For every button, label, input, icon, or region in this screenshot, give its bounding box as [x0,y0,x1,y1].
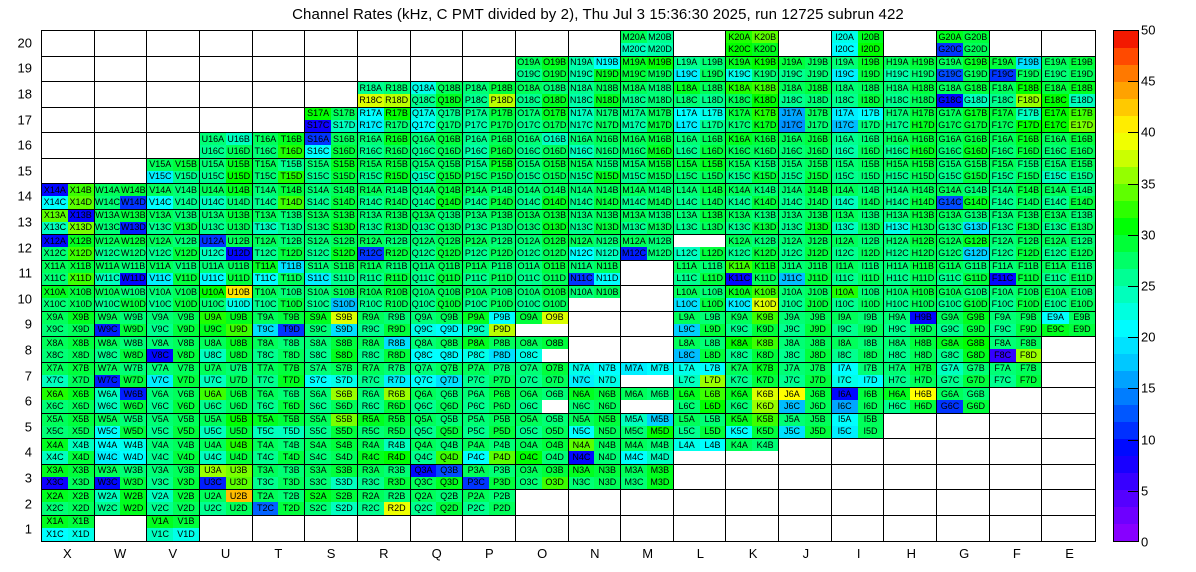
channel-cell: S2A [305,490,331,502]
channel-cell [1069,400,1095,412]
channel-cell: Q18C [411,94,437,106]
channel-cell: G17B [963,108,989,120]
channel-cell: R17B [384,108,410,120]
heatmap-cell: T11AT11BT11CT11D [253,261,306,287]
channel-cell: P15D [489,171,515,183]
channel-cell [674,31,700,43]
channel-cell: G7B [963,363,989,375]
channel-cell: T13D [278,222,304,234]
channel-cell [832,477,858,489]
channel-cell: W12C [95,247,121,259]
heatmap-cell: O13AO13BO13CO13D [516,210,569,236]
channel-cell: M16A [621,133,647,145]
channel-cell: V6C [147,400,173,412]
channel-cell: Q7A [411,363,437,375]
channel-cell: K7C [726,375,752,387]
channel-cell: Q10D [436,298,462,310]
channel-cell [963,414,989,426]
channel-cell: U8D [226,349,252,361]
channel-cell: P5C [463,426,489,438]
channel-cell: G15D [963,171,989,183]
channel-cell: Q7D [436,375,462,387]
channel-cell: W4A [95,439,121,451]
channel-cell: J9B [805,312,831,324]
channel-cell: G11D [963,273,989,285]
channel-cell: V13A [147,210,173,222]
channel-cell: M16B [647,133,673,145]
channel-cell: N6B [594,388,620,400]
channel-cell: N3D [594,477,620,489]
heatmap-cell: P14AP14BP14CP14D [463,184,516,210]
channel-cell [120,43,146,55]
channel-cell: P12B [489,235,515,247]
channel-cell [68,171,94,183]
channel-cell [910,465,936,477]
channel-cell: I11D [858,273,884,285]
heatmap-cell: Q13AQ13BQ13CQ13D [411,210,464,236]
channel-cell: E11D [1069,273,1095,285]
channel-cell: P10B [489,286,515,298]
heatmap-cell: P6AP6BP6CP6D [463,388,516,414]
channel-cell: S15C [305,171,331,183]
channel-cell: R15A [358,159,384,171]
channel-cell: V11D [173,273,199,285]
heatmap-cell [621,286,674,312]
channel-cell: I5C [832,426,858,438]
channel-cell: O14B [542,184,568,196]
channel-cell: K7B [752,363,778,375]
channel-cell [647,516,673,529]
channel-cell: X6D [68,400,94,412]
channel-cell: P15B [489,159,515,171]
y-axis-tick: 20 [0,35,32,50]
channel-cell: U16B [226,133,252,145]
channel-cell: V4A [147,439,173,451]
heatmap-cell: X12AX12BX12CX12D [42,235,95,261]
channel-cell [147,43,173,55]
channel-cell: X1D [68,528,94,541]
channel-cell: N3A [569,465,595,477]
channel-cell: O19B [542,57,568,69]
channel-cell: K10A [726,286,752,298]
channel-cell [463,57,489,69]
channel-cell: T9A [253,312,279,324]
channel-cell: R4C [358,451,384,463]
heatmap-cell: S9AS9BS9CS9D [305,312,358,338]
channel-cell: R12B [384,235,410,247]
channel-cell: G17A [937,108,963,120]
channel-cell [963,465,989,477]
channel-cell: O5C [516,426,542,438]
channel-cell [858,477,884,489]
channel-cell: G7C [937,375,963,387]
heatmap-cell [95,31,148,57]
channel-cell: J18B [805,82,831,94]
channel-cell: F16A [990,133,1016,145]
channel-cell: U3D [226,477,252,489]
channel-cell [779,490,805,502]
channel-cell: K20C [726,43,752,55]
channel-cell [42,31,68,43]
channel-cell: G15B [963,159,989,171]
channel-cell: K7A [726,363,752,375]
channel-cell: I9A [832,312,858,324]
heatmap-cell: O4AO4BO4CO4D [516,439,569,465]
channel-cell: I9C [832,324,858,336]
channel-cell [647,273,673,285]
channel-cell: F19D [1016,69,1042,81]
channel-cell: P4B [489,439,515,451]
heatmap-cell: U10AU10BU10CU10D [200,286,253,312]
channel-cell [1016,465,1042,477]
channel-cell [569,324,595,336]
channel-cell: V4C [147,451,173,463]
channel-cell: Q11A [411,261,437,273]
channel-cell [832,516,858,529]
channel-cell: S9A [305,312,331,324]
channel-cell [68,133,94,145]
channel-cell: K13C [726,222,752,234]
heatmap-cell [42,57,95,83]
channel-cell: J17C [779,120,805,132]
y-axis-tick: 10 [0,291,32,306]
channel-cell: F15A [990,159,1016,171]
x-axis-tick: F [1013,546,1021,561]
channel-cell: N15A [569,159,595,171]
heatmap-cell: F16AF16BF16CF16D [990,133,1043,159]
channel-cell: X6A [42,388,68,400]
channel-cell: Q3B [436,465,462,477]
channel-cell: U10C [200,298,226,310]
heatmap-cell: E12AE12BE12CE12D [1042,235,1095,261]
colorbar-tick-label: 30 [1141,227,1155,242]
heatmap-cell: H15AH15BH15CH15D [884,159,937,185]
channel-cell: K14C [726,196,752,208]
channel-cell [95,159,121,171]
channel-cell [226,120,252,132]
channel-cell: R14C [358,196,384,208]
channel-cell: R7B [384,363,410,375]
heatmap-cell: O7AO7BO7CO7D [516,363,569,389]
heatmap-cell: I12AI12BI12CI12D [832,235,885,261]
channel-cell: F14C [990,196,1016,208]
channel-cell: L18B [700,82,726,94]
y-axis-tick: 18 [0,87,32,102]
channel-cell: U3C [200,477,226,489]
colorbar-tick-label: 10 [1141,432,1155,447]
heatmap-cell: Q11AQ11BQ11CQ11D [411,261,464,287]
channel-cell [120,69,146,81]
channel-cell: Q4C [411,451,437,463]
channel-cell: K15A [726,159,752,171]
channel-cell: J7B [805,363,831,375]
channel-cell: X10D [68,298,94,310]
channel-cell [990,490,1016,502]
heatmap-cell [95,133,148,159]
channel-cell [305,528,331,541]
heatmap-cell [832,490,885,516]
channel-cell [542,324,568,336]
channel-cell: P7B [489,363,515,375]
heatmap-cell: E15AE15BE15CE15D [1042,159,1095,185]
channel-cell: U7A [200,363,226,375]
heatmap-cell: P3AP3BP3CP3D [463,465,516,491]
channel-cell: W9A [95,312,121,324]
channel-cell: S9D [331,324,357,336]
channel-cell [147,57,173,69]
channel-cell [990,43,1016,55]
channel-cell: I10A [832,286,858,298]
channel-cell: L19A [674,57,700,69]
channel-cell: R6C [358,400,384,412]
channel-cell [1042,465,1068,477]
channel-cell: O10D [542,298,568,310]
channel-cell: Q2C [411,502,437,514]
channel-cell: H18D [910,94,936,106]
channel-cell: O18B [542,82,568,94]
channel-cell: P3A [463,465,489,477]
channel-cell: O11A [516,261,542,273]
channel-cell: O14C [516,196,542,208]
channel-cell: X14D [68,196,94,208]
channel-cell: V2A [147,490,173,502]
channel-cell: L19B [700,57,726,69]
channel-cell [358,528,384,541]
heatmap-cell: U15AU15BU15CU15D [200,159,253,185]
channel-cell [1016,502,1042,514]
channel-cell: P18A [463,82,489,94]
channel-cell: E16A [1042,133,1068,145]
colorbar-segment [1114,31,1138,48]
heatmap-cell: V3AV3BV3CV3D [147,465,200,491]
heatmap-cell: G7AG7BG7CG7D [937,363,990,389]
channel-cell: V15B [173,159,199,171]
channel-cell: G11A [937,261,963,273]
channel-cell: H8A [884,337,910,349]
channel-cell: V7C [147,375,173,387]
channel-cell [42,159,68,171]
channel-cell: T2C [253,502,279,514]
channel-cell: L7A [674,363,700,375]
channel-cell [647,324,673,336]
channel-cell [173,94,199,106]
channel-cell: G19B [963,57,989,69]
channel-cell: J7C [779,375,805,387]
heatmap-cell: R2AR2BR2CR2D [358,490,411,516]
channel-cell: W12B [120,235,146,247]
channel-cell: W5B [120,414,146,426]
channel-cell [95,120,121,132]
channel-cell: T8D [278,349,304,361]
channel-cell: P16C [463,145,489,157]
channel-cell: X5C [42,426,68,438]
channel-cell: J19C [779,69,805,81]
channel-cell: J9A [779,312,805,324]
heatmap-cell: F14AF14BF14CF14D [990,184,1043,210]
channel-cell: Q17A [411,108,437,120]
channel-cell: J18D [805,94,831,106]
channel-cell: O16D [542,145,568,157]
channel-cell: X7C [42,375,68,387]
channel-cell [120,516,146,529]
heatmap-cell: N19AN19BN19CN19D [569,57,622,83]
channel-cell: R10B [384,286,410,298]
heatmap-cell: G20AG20BG20CG20D [937,31,990,57]
channel-cell: X14B [68,184,94,196]
heatmap-cell: G9AG9BG9CG9D [937,312,990,338]
channel-cell [1042,375,1068,387]
heatmap-cell: V12AV12BV12CV12D [147,235,200,261]
channel-cell: E19C [1042,69,1068,81]
channel-cell: W2A [95,490,121,502]
channel-cell: V11B [173,261,199,273]
channel-cell: X4A [42,439,68,451]
channel-cell: R9A [358,312,384,324]
heatmap-cell [95,159,148,185]
channel-cell: H17D [910,120,936,132]
colorbar-segment [1114,388,1138,405]
x-axis-tick: V [169,546,178,561]
channel-cell: O9A [516,312,542,324]
heatmap-cell: W11AW11BW11CW11D [95,261,148,287]
channel-cell: P3D [489,477,515,489]
channel-cell: T3D [278,477,304,489]
heatmap-cell [305,31,358,57]
channel-cell: K15D [752,171,778,183]
channel-cell: Q10A [411,286,437,298]
channel-cell [1016,426,1042,438]
y-axis-tick: 15 [0,163,32,178]
colorbar-segment [1114,218,1138,235]
heatmap-cell: L13AL13BL13CL13D [674,210,727,236]
heatmap-cell: J15AJ15BJ15CJ15D [779,159,832,185]
channel-cell: U5C [200,426,226,438]
channel-cell: W10B [120,286,146,298]
channel-cell: I20D [858,43,884,55]
channel-cell [253,94,279,106]
channel-cell: W5A [95,414,121,426]
channel-cell: P6A [463,388,489,400]
channel-cell: F12A [990,235,1016,247]
channel-cell: V10D [173,298,199,310]
channel-cell [700,502,726,514]
channel-cell: G8C [937,349,963,361]
channel-cell: W8A [95,337,121,349]
channel-cell: T5C [253,426,279,438]
x-axis-tick: N [590,546,599,561]
channel-cell: T10C [253,298,279,310]
channel-cell [647,528,673,541]
channel-cell: T15B [278,159,304,171]
channel-cell [358,57,384,69]
channel-cell: W11C [95,273,121,285]
channel-cell [42,43,68,55]
channel-cell [647,375,673,387]
channel-cell: R17C [358,120,384,132]
channel-cell: S12A [305,235,331,247]
x-axis-tick: X [63,546,72,561]
channel-cell: G9A [937,312,963,324]
channel-cell: W6B [120,388,146,400]
channel-cell: P8C [463,349,489,361]
channel-cell [95,133,121,145]
channel-cell: P2B [489,490,515,502]
heatmap-cell: J10AJ10BJ10CJ10D [779,286,832,312]
heatmap-cell [253,82,306,108]
channel-cell [779,439,805,451]
channel-cell: E13C [1042,222,1068,234]
heatmap-cell: H10AH10BH10CH10D [884,286,937,312]
channel-cell: E15A [1042,159,1068,171]
channel-cell: O8A [516,337,542,349]
x-axis-tick: T [274,546,282,561]
channel-cell: F13B [1016,210,1042,222]
channel-cell: I19B [858,57,884,69]
heatmap-cell: E14AE14BE14CE14D [1042,184,1095,210]
channel-cell [963,516,989,529]
channel-cell: J15D [805,171,831,183]
heatmap-cell: V1AV1BV1CV1D [147,516,200,542]
channel-cell: E13D [1069,222,1095,234]
channel-cell: T11B [278,261,304,273]
channel-cell: L15A [674,159,700,171]
heatmap-cell: O3AO3BO3CO3D [516,465,569,491]
channel-cell: F19B [1016,57,1042,69]
channel-cell [95,69,121,81]
channel-cell [1069,490,1095,502]
channel-cell: R6A [358,388,384,400]
channel-cell: V12C [147,247,173,259]
heatmap-cell: I17AI17BI17CI17D [832,108,885,134]
channel-cell: P9C [463,324,489,336]
channel-cell: M17A [621,108,647,120]
channel-cell: O17A [516,108,542,120]
y-axis-tick: 1 [0,522,32,537]
heatmap-cell [1042,516,1095,542]
channel-cell: E15D [1069,171,1095,183]
heatmap-cell [253,31,306,57]
channel-cell: U11C [200,273,226,285]
channel-cell: P8D [489,349,515,361]
heatmap-cell: T15AT15BT15CT15D [253,159,306,185]
channel-cell: U9D [226,324,252,336]
channel-cell: F17C [990,120,1016,132]
heatmap-cell: L17AL17BL17CL17D [674,108,727,134]
channel-cell: V3B [173,465,199,477]
channel-cell [884,490,910,502]
channel-cell: R11C [358,273,384,285]
channel-cell: F7D [1016,375,1042,387]
channel-cell: L15B [700,159,726,171]
heatmap-cell: Q12AQ12BQ12CQ12D [411,235,464,261]
channel-cell: H18C [884,94,910,106]
channel-cell: O19D [542,69,568,81]
channel-cell [832,490,858,502]
colorbar-tick-label: 50 [1141,23,1155,38]
channel-cell: G14B [963,184,989,196]
channel-cell: M12C [621,247,647,259]
channel-cell: S9C [305,324,331,336]
channel-cell: Q9A [411,312,437,324]
heatmap-cell: M18AM18BM18CM18D [621,82,674,108]
channel-cell [95,43,121,55]
colorbar-segment [1114,524,1138,541]
channel-cell: V13D [173,222,199,234]
heatmap-cell [832,439,885,465]
channel-cell: I14A [832,184,858,196]
channel-cell: G13C [937,222,963,234]
heatmap-cell [358,57,411,83]
